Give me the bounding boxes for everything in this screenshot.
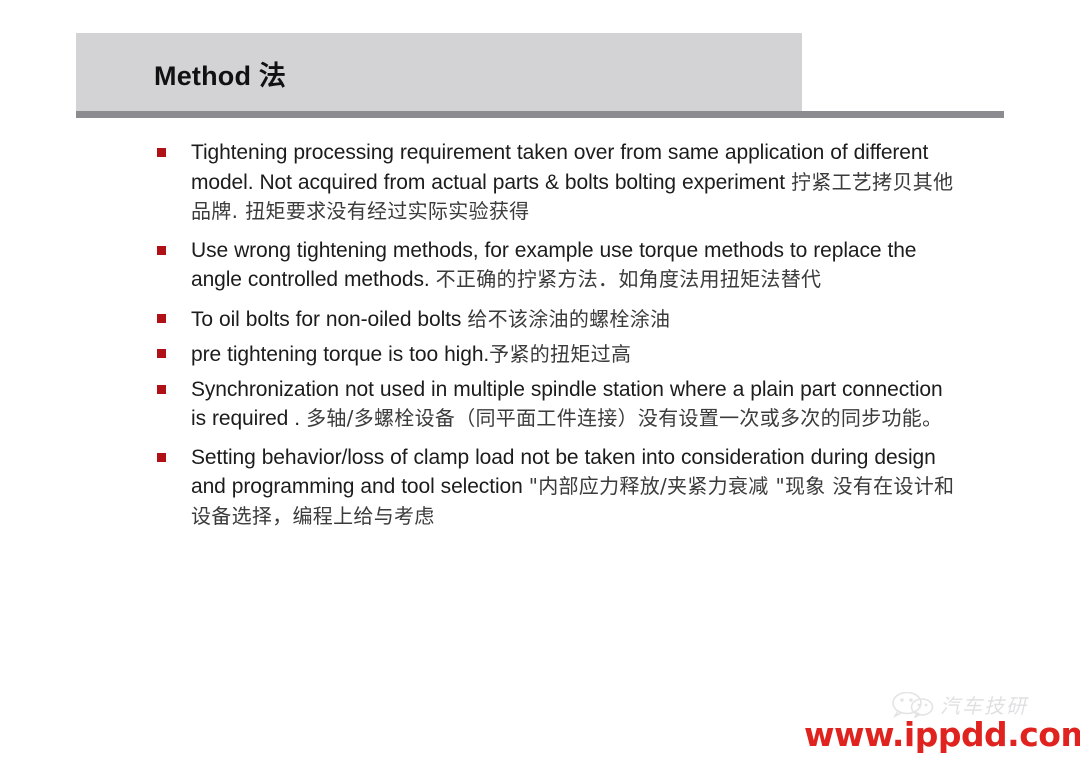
wechat-logo-icon (892, 692, 934, 718)
bullet-text: Tightening processing requirement taken … (191, 139, 955, 227)
bullet-text-cn: 不正确的拧紧方法．如角度法用扭矩法替代 (436, 267, 822, 291)
header-underline-bar (76, 111, 1004, 118)
bullet-list: Tightening processing requirement taken … (155, 139, 955, 541)
list-item: Synchronization not used in multiple spi… (155, 376, 955, 434)
bullet-text-cn: 给不该涂油的螺栓涂油 (467, 307, 670, 331)
square-bullet-icon (157, 314, 166, 323)
list-item: To oil bolts for non-oiled bolts 给不该涂油的螺… (155, 305, 955, 335)
bullet-text: Setting behavior/loss of clamp load not … (191, 444, 955, 532)
list-item: Setting behavior/loss of clamp load not … (155, 444, 955, 532)
watermark: 汽车技研 www.ippdd.com (800, 688, 1080, 763)
square-bullet-icon (157, 385, 166, 394)
slide-canvas: Method 法 Tightening processing requireme… (0, 0, 1080, 763)
square-bullet-icon (157, 349, 166, 358)
bullet-text: pre tightening torque is too high.予紧的扭矩过… (191, 340, 955, 370)
bullet-text-en: pre tightening torque is too high. (191, 343, 489, 366)
square-bullet-icon (157, 453, 166, 462)
bullet-text-en: To oil bolts for non-oiled bolts (191, 308, 467, 331)
list-item: Tightening processing requirement taken … (155, 139, 955, 227)
list-item: pre tightening torque is too high.予紧的扭矩过… (155, 340, 955, 370)
slide-title-en: Method (154, 61, 251, 91)
bullet-text: Synchronization not used in multiple spi… (191, 376, 955, 434)
square-bullet-icon (157, 148, 166, 157)
bullet-text-cn: 予紧的扭矩过高 (489, 342, 631, 366)
watermark-url: www.ippdd.com (804, 715, 1080, 754)
list-item: Use wrong tightening methods, for exampl… (155, 237, 955, 295)
slide-title-cn: 法 (259, 61, 286, 92)
square-bullet-icon (157, 246, 166, 255)
bullet-text: To oil bolts for non-oiled bolts 给不该涂油的螺… (191, 305, 955, 335)
slide-title: Method 法 (154, 59, 286, 94)
bullet-text-cn: 多轴/多螺栓设备（同平面工件连接）没有设置一次或多次的同步功能。 (306, 406, 942, 430)
bullet-text: Use wrong tightening methods, for exampl… (191, 237, 955, 295)
